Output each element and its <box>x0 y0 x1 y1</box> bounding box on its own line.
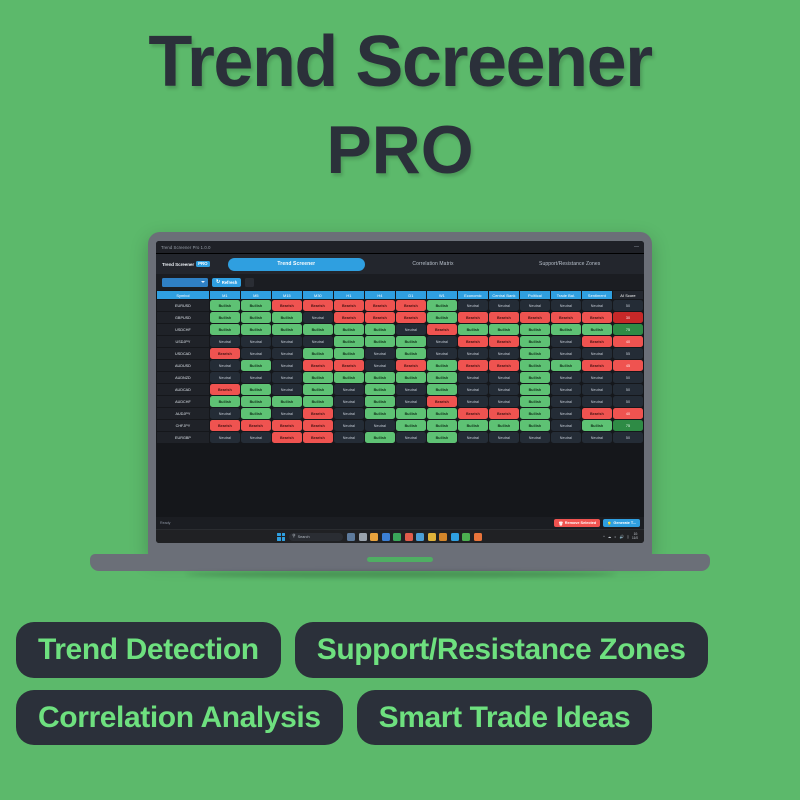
search-icon: ⚲ <box>292 534 295 539</box>
app-statusbar: Ready 🗑 Remove Selected 💡 Generate T... <box>156 517 644 529</box>
feature-badge-trend-detection: Trend Detection <box>16 622 281 678</box>
cell-central-bank[interactable]: Neutral <box>489 300 519 311</box>
cell-symbol[interactable]: CHFJPY <box>157 420 209 431</box>
cell-symbol[interactable]: EURGBP <box>157 432 209 443</box>
cell-symbol[interactable]: GBPUSD <box>157 312 209 323</box>
table-row[interactable]: AUDJPYNeutralBullishNeutralBearishNeutra… <box>157 408 643 419</box>
generate-trade-label: Generate T... <box>613 521 636 525</box>
cell-w1[interactable]: Bullish <box>427 384 457 395</box>
laptop-lid: Trend Screener Pro 1.0.0 — Trend Screene… <box>148 232 652 557</box>
cell-d1[interactable]: Bullish <box>396 420 426 431</box>
table-row[interactable]: AUDNZDNeutralNeutralNeutralBullishBullis… <box>157 372 643 383</box>
cell-m30[interactable]: Bearish <box>303 408 333 419</box>
app-icon-1[interactable] <box>428 533 436 541</box>
cell-central-bank[interactable]: Neutral <box>489 348 519 359</box>
cell-h4[interactable]: Bullish <box>365 384 395 395</box>
cell-m5[interactable]: Neutral <box>241 372 271 383</box>
cell-d1[interactable]: Bearish <box>396 312 426 323</box>
cell-sentiment[interactable]: Bullish <box>582 324 612 335</box>
cell-m15[interactable]: Bullish <box>272 324 302 335</box>
col-header-m15[interactable]: M15 <box>272 291 302 299</box>
cell-m1[interactable]: Bearish <box>210 420 240 431</box>
cell-d1[interactable]: Bullish <box>396 408 426 419</box>
table-body: EURUSDBullishBullishBearishBearishBearis… <box>157 300 643 443</box>
cell-m5[interactable]: Bullish <box>241 300 271 311</box>
cell-d1[interactable]: Bullish <box>396 336 426 347</box>
cell-m5[interactable]: Neutral <box>241 336 271 347</box>
cell-central-bank[interactable]: Bearish <box>489 360 519 371</box>
cell-economic[interactable]: Bullish <box>458 324 488 335</box>
cell-m1[interactable]: Neutral <box>210 432 240 443</box>
cell-m5[interactable]: Bullish <box>241 360 271 371</box>
notepad-icon[interactable] <box>416 533 424 541</box>
cell-symbol[interactable]: AUDNZD <box>157 372 209 383</box>
cell-political[interactable]: Bullish <box>520 360 550 371</box>
cell-w1[interactable]: Bullish <box>427 312 457 323</box>
cell-symbol[interactable]: AUDCAD <box>157 384 209 395</box>
cell-m1[interactable]: Neutral <box>210 336 240 347</box>
cell-m5[interactable]: Neutral <box>241 432 271 443</box>
table-row[interactable]: USDJPYNeutralNeutralNeutralNeutralBullis… <box>157 336 643 347</box>
table-row[interactable]: AUDCHFBullishBullishBullishBullishNeutra… <box>157 396 643 407</box>
cell-m15[interactable]: Bearish <box>272 432 302 443</box>
feature-row-1: Trend Detection Support/Resistance Zones <box>16 622 784 678</box>
cell-economic[interactable]: Bearish <box>458 312 488 323</box>
cell-w1[interactable]: Bearish <box>427 324 457 335</box>
cell-m15[interactable]: Neutral <box>272 360 302 371</box>
cell-m30[interactable]: Bearish <box>303 420 333 431</box>
cell-trade-bal[interactable]: Neutral <box>551 372 581 383</box>
cell-h1[interactable]: Neutral <box>334 420 364 431</box>
weather-widget[interactable] <box>347 533 355 541</box>
wifi-icon[interactable]: ◐ <box>614 535 616 539</box>
cell-m30[interactable]: Neutral <box>303 312 333 323</box>
cell-m30[interactable]: Bullish <box>303 384 333 395</box>
cell-trade-bal[interactable]: Neutral <box>551 396 581 407</box>
cell-h1[interactable]: Neutral <box>334 408 364 419</box>
table-row[interactable]: EURUSDBullishBullishBearishBearishBearis… <box>157 300 643 311</box>
col-header-d1[interactable]: D1 <box>396 291 426 299</box>
table-row[interactable]: EURGBPNeutralNeutralBearishBearishNeutra… <box>157 432 643 443</box>
cell-economic[interactable]: Neutral <box>458 432 488 443</box>
hero-title-line2: PRO <box>0 110 800 192</box>
cell-m30[interactable]: Bearish <box>303 300 333 311</box>
cell-economic[interactable]: Neutral <box>458 300 488 311</box>
cell-economic[interactable]: Bearish <box>458 408 488 419</box>
cell-political[interactable]: Neutral <box>520 300 550 311</box>
clock-date: 11/0 <box>632 537 638 541</box>
cell-economic[interactable]: Neutral <box>458 384 488 395</box>
col-header-central-bank[interactable]: Central Bank <box>489 291 519 299</box>
cell-trade-bal[interactable]: Neutral <box>551 336 581 347</box>
taskbar-tray[interactable]: ^ ☁ ◐ 🔊 ▯ 10: 11/0 <box>603 533 640 540</box>
tab-trend-screener[interactable]: Trend Screener <box>228 258 365 271</box>
cell-sentiment[interactable]: Bearish <box>582 312 612 323</box>
screener-table: SymbolM1M5M15M30H1H4D1W1EconomicCentral … <box>156 290 644 444</box>
table-row[interactable]: AUDUSDNeutralBullishNeutralBearishBearis… <box>157 360 643 371</box>
app-navbar: Trend Screener PRO Trend Screener Correl… <box>156 254 644 274</box>
app-logo-pro-badge: PRO <box>196 261 210 267</box>
cell-sentiment[interactable]: Bearish <box>582 408 612 419</box>
cell-central-bank[interactable]: Neutral <box>489 396 519 407</box>
cell-m15[interactable]: Neutral <box>272 372 302 383</box>
cell-symbol[interactable]: AUDCHF <box>157 396 209 407</box>
cell-m15[interactable]: Bearish <box>272 300 302 311</box>
cell-h4[interactable]: Bullish <box>365 372 395 383</box>
table-row[interactable]: AUDCADBearishBullishNeutralBullishNeutra… <box>157 384 643 395</box>
app-logo: Trend Screener PRO <box>162 261 222 267</box>
cell-m30[interactable]: Neutral <box>303 336 333 347</box>
cell-political[interactable]: Bullish <box>520 336 550 347</box>
bulb-icon: 💡 <box>607 521 612 526</box>
cell-m15[interactable]: Neutral <box>272 336 302 347</box>
cell-h1[interactable]: Bullish <box>334 324 364 335</box>
cell-h4[interactable]: Bearish <box>365 300 395 311</box>
chrome-icon[interactable] <box>393 533 401 541</box>
minimize-icon[interactable]: — <box>634 245 639 250</box>
col-header-m5[interactable]: M5 <box>241 291 271 299</box>
cell-m1[interactable]: Bearish <box>210 384 240 395</box>
refresh-button-label: Refresh <box>222 280 238 285</box>
cell-h1[interactable]: Bullish <box>334 372 364 383</box>
poster-root: Trend Screener PRO Trend Screener Pro 1.… <box>0 0 800 800</box>
app-icon-3[interactable] <box>451 533 459 541</box>
cell-ai-score[interactable]: 50 <box>613 372 643 383</box>
window-controls[interactable]: — <box>634 245 639 250</box>
cell-political[interactable]: Bullish <box>520 348 550 359</box>
cell-h1[interactable]: Bearish <box>334 300 364 311</box>
taskbar-center-group: ⚲ Search <box>160 533 599 541</box>
cell-ai-score[interactable]: 50 <box>613 384 643 395</box>
window-title: Trend Screener Pro 1.0.0 <box>161 245 211 250</box>
cell-m1[interactable]: Bullish <box>210 324 240 335</box>
col-header-sentiment[interactable]: Sentiment <box>582 291 612 299</box>
cell-political[interactable]: Bullish <box>520 324 550 335</box>
table-row[interactable]: CHFJPYBearishBearishBearishBearishNeutra… <box>157 420 643 431</box>
cell-ai-score[interactable]: 50 <box>613 396 643 407</box>
cell-symbol[interactable]: USDCAD <box>157 348 209 359</box>
refresh-button[interactable]: ↻ Refresh <box>212 278 241 287</box>
remove-selected-button[interactable]: 🗑 Remove Selected <box>554 519 600 527</box>
symbol-group-select[interactable] <box>162 278 208 287</box>
cell-trade-bal[interactable]: Bullish <box>551 324 581 335</box>
cell-d1[interactable]: Bearish <box>396 300 426 311</box>
cell-h4[interactable]: Bullish <box>365 396 395 407</box>
cell-sentiment[interactable]: Neutral <box>582 300 612 311</box>
cell-w1[interactable]: Neutral <box>427 348 457 359</box>
cell-central-bank[interactable]: Bullish <box>489 324 519 335</box>
cell-h1[interactable]: Bearish <box>334 360 364 371</box>
tab-support-resistance-zones[interactable]: Support/Resistance Zones <box>501 258 638 271</box>
cell-h1[interactable]: Bullish <box>334 348 364 359</box>
taskbar-pinned-icons[interactable] <box>347 533 482 541</box>
app-toolbar: ↻ Refresh <box>156 274 644 290</box>
cell-trade-bal[interactable]: Neutral <box>551 300 581 311</box>
cell-m5[interactable]: Bullish <box>241 396 271 407</box>
cell-d1[interactable]: Bearish <box>396 360 426 371</box>
volume-icon[interactable]: 🔊 <box>620 535 624 539</box>
cell-m1[interactable]: Bullish <box>210 312 240 323</box>
hero-heading: Trend Screener PRO <box>0 26 800 192</box>
cell-m15[interactable]: Bullish <box>272 312 302 323</box>
edge-icon[interactable] <box>382 533 390 541</box>
cell-sentiment[interactable]: Neutral <box>582 372 612 383</box>
cell-m5[interactable]: Neutral <box>241 348 271 359</box>
cell-central-bank[interactable]: Neutral <box>489 384 519 395</box>
cell-h4[interactable]: Neutral <box>365 420 395 431</box>
cell-trade-bal[interactable]: Bullish <box>551 360 581 371</box>
table-head: SymbolM1M5M15M30H1H4D1W1EconomicCentral … <box>157 291 643 299</box>
cell-m5[interactable]: Bullish <box>241 324 271 335</box>
cell-symbol[interactable]: AUDJPY <box>157 408 209 419</box>
cell-h4[interactable]: Neutral <box>365 360 395 371</box>
cell-ai-score[interactable]: 75 <box>613 324 643 335</box>
cell-d1[interactable]: Neutral <box>396 432 426 443</box>
col-header-symbol[interactable]: Symbol <box>157 291 209 299</box>
cell-w1[interactable]: Neutral <box>427 336 457 347</box>
file-explorer-icon[interactable] <box>359 533 367 541</box>
cell-m30[interactable]: Bullish <box>303 324 333 335</box>
app-titlebar: Trend Screener Pro 1.0.0 — <box>156 241 644 254</box>
trash-icon: 🗑 <box>558 521 563 526</box>
cloud-icon[interactable]: ☁ <box>608 535 612 539</box>
taskbar-search-placeholder: Search <box>298 535 310 539</box>
app-logo-text: Trend Screener <box>162 262 194 267</box>
cell-m5[interactable]: Bullish <box>241 408 271 419</box>
cell-h4[interactable]: Bearish <box>365 312 395 323</box>
cell-m15[interactable]: Neutral <box>272 348 302 359</box>
cell-m30[interactable]: Bearish <box>303 360 333 371</box>
cell-d1[interactable]: Neutral <box>396 384 426 395</box>
cell-trade-bal[interactable]: Neutral <box>551 420 581 431</box>
feature-badge-support-resistance-zones: Support/Resistance Zones <box>295 622 708 678</box>
col-header-w1[interactable]: W1 <box>427 291 457 299</box>
cell-political[interactable]: Bearish <box>520 312 550 323</box>
cell-economic[interactable]: Bearish <box>458 360 488 371</box>
laptop-mockup: Trend Screener Pro 1.0.0 — Trend Screene… <box>90 232 710 592</box>
cell-ai-score[interactable]: 55 <box>613 348 643 359</box>
cell-h1[interactable]: Neutral <box>334 396 364 407</box>
app-icon-2[interactable] <box>439 533 447 541</box>
col-header-h1[interactable]: H1 <box>334 291 364 299</box>
cell-m1[interactable]: Neutral <box>210 372 240 383</box>
cell-central-bank[interactable]: Neutral <box>489 372 519 383</box>
cell-h4[interactable]: Bullish <box>365 432 395 443</box>
table-header-row: SymbolM1M5M15M30H1H4D1W1EconomicCentral … <box>157 291 643 299</box>
tab-bar: Trend Screener Correlation Matrix Suppor… <box>228 258 638 271</box>
cell-economic[interactable]: Neutral <box>458 348 488 359</box>
col-header-m30[interactable]: M30 <box>303 291 333 299</box>
cell-h1[interactable]: Neutral <box>334 384 364 395</box>
battery-icon[interactable]: ▯ <box>627 535 629 539</box>
cell-ai-score[interactable]: 50 <box>613 300 643 311</box>
cell-economic[interactable]: Neutral <box>458 396 488 407</box>
chevron-up-icon[interactable]: ^ <box>603 535 605 539</box>
cell-trade-bal[interactable]: Neutral <box>551 408 581 419</box>
col-header-m1[interactable]: M1 <box>210 291 240 299</box>
cell-political[interactable]: Neutral <box>520 432 550 443</box>
cell-symbol[interactable]: USDJPY <box>157 336 209 347</box>
taskbar-clock[interactable]: 10: 11/0 <box>632 533 638 540</box>
cell-symbol[interactable]: AUDUSD <box>157 360 209 371</box>
table-row[interactable]: USDCHFBullishBullishBullishBullishBullis… <box>157 324 643 335</box>
cell-central-bank[interactable]: Bearish <box>489 408 519 419</box>
cell-economic[interactable]: Bullish <box>458 420 488 431</box>
cell-sentiment[interactable]: Neutral <box>582 384 612 395</box>
cell-sentiment[interactable]: Bearish <box>582 336 612 347</box>
col-header-political[interactable]: Political <box>520 291 550 299</box>
cell-m5[interactable]: Bullish <box>241 384 271 395</box>
remove-selected-label: Remove Selected <box>565 521 596 525</box>
laptop-base-shadow <box>186 571 616 578</box>
cell-m30[interactable]: Bullish <box>303 348 333 359</box>
windows-taskbar: ⚲ Search ^ ☁ ◐ 🔊 ▯ 10: 11/0 <box>156 529 644 543</box>
windows-start-icon[interactable] <box>277 533 285 541</box>
settings-button[interactable] <box>245 278 254 287</box>
cell-m15[interactable]: Bearish <box>272 420 302 431</box>
laptop-screen: Trend Screener Pro 1.0.0 — Trend Screene… <box>156 241 644 543</box>
table-row[interactable]: GBPUSDBullishBullishBullishNeutralBearis… <box>157 312 643 323</box>
cell-w1[interactable]: Bearish <box>427 396 457 407</box>
cell-sentiment[interactable]: Bearish <box>582 360 612 371</box>
cell-d1[interactable]: Neutral <box>396 396 426 407</box>
cell-political[interactable]: Bullish <box>520 396 550 407</box>
cell-m1[interactable]: Bearish <box>210 348 240 359</box>
cell-sentiment[interactable]: Neutral <box>582 396 612 407</box>
cell-trade-bal[interactable]: Bearish <box>551 312 581 323</box>
cell-trade-bal[interactable]: Neutral <box>551 348 581 359</box>
cell-m1[interactable]: Neutral <box>210 408 240 419</box>
col-header-trade-bal[interactable]: Trade Bal. <box>551 291 581 299</box>
cell-m5[interactable]: Bullish <box>241 312 271 323</box>
cell-d1[interactable]: Bullish <box>396 372 426 383</box>
cell-political[interactable]: Bullish <box>520 408 550 419</box>
cell-trade-bal[interactable]: Neutral <box>551 384 581 395</box>
col-header-economic[interactable]: Economic <box>458 291 488 299</box>
cell-ai-score[interactable]: 75 <box>613 420 643 431</box>
status-text: Ready <box>160 521 170 525</box>
cell-h4[interactable]: Bullish <box>365 324 395 335</box>
cell-central-bank[interactable]: Bearish <box>489 312 519 323</box>
feature-badge-smart-trade-ideas: Smart Trade Ideas <box>357 690 653 746</box>
app-icon-4[interactable] <box>462 533 470 541</box>
folder-icon[interactable] <box>370 533 378 541</box>
cell-m1[interactable]: Neutral <box>210 360 240 371</box>
tab-correlation-matrix[interactable]: Correlation Matrix <box>365 258 502 271</box>
cell-ai-score[interactable]: 40 <box>613 408 643 419</box>
cell-m1[interactable]: Bullish <box>210 300 240 311</box>
cell-m15[interactable]: Bullish <box>272 396 302 407</box>
cell-political[interactable]: Bullish <box>520 372 550 383</box>
laptop-hinge <box>90 554 710 571</box>
cell-m15[interactable]: Neutral <box>272 408 302 419</box>
cell-w1[interactable]: Bullish <box>427 360 457 371</box>
cell-m30[interactable]: Bullish <box>303 396 333 407</box>
cell-sentiment[interactable]: Neutral <box>582 348 612 359</box>
cell-central-bank[interactable]: Neutral <box>489 432 519 443</box>
cell-central-bank[interactable]: Bullish <box>489 420 519 431</box>
paint-icon[interactable] <box>405 533 413 541</box>
col-header-ai-score[interactable]: AI Score <box>613 291 643 299</box>
cell-h4[interactable]: Bullish <box>365 408 395 419</box>
chevron-down-icon <box>201 281 205 283</box>
cell-political[interactable]: Bullish <box>520 420 550 431</box>
cell-m15[interactable]: Neutral <box>272 384 302 395</box>
cell-w1[interactable]: Bullish <box>427 300 457 311</box>
cell-w1[interactable]: Bullish <box>427 432 457 443</box>
refresh-icon: ↻ <box>216 280 220 285</box>
cell-ai-score[interactable]: 50 <box>613 432 643 443</box>
cell-ai-score[interactable]: 30 <box>613 312 643 323</box>
feature-badge-group: Trend Detection Support/Resistance Zones… <box>0 622 800 757</box>
col-header-h4[interactable]: H4 <box>365 291 395 299</box>
cell-sentiment[interactable]: Neutral <box>582 432 612 443</box>
cell-m30[interactable]: Bearish <box>303 432 333 443</box>
cell-economic[interactable]: Neutral <box>458 372 488 383</box>
cell-h1[interactable]: Bullish <box>334 336 364 347</box>
cell-political[interactable]: Bullish <box>520 384 550 395</box>
cell-m5[interactable]: Bearish <box>241 420 271 431</box>
cell-d1[interactable]: Bullish <box>396 348 426 359</box>
cell-d1[interactable]: Neutral <box>396 324 426 335</box>
cell-central-bank[interactable]: Bearish <box>489 336 519 347</box>
cell-h1[interactable]: Neutral <box>334 432 364 443</box>
cell-ai-score[interactable]: 40 <box>613 336 643 347</box>
cell-sentiment[interactable]: Bullish <box>582 420 612 431</box>
cell-trade-bal[interactable]: Neutral <box>551 432 581 443</box>
cell-h4[interactable]: Bullish <box>365 336 395 347</box>
feature-badge-correlation-analysis: Correlation Analysis <box>16 690 343 746</box>
cell-economic[interactable]: Bearish <box>458 336 488 347</box>
feature-row-2: Correlation Analysis Smart Trade Ideas <box>16 690 784 746</box>
app-icon-5[interactable] <box>474 533 482 541</box>
hero-title-line1: Trend Screener <box>0 26 800 98</box>
cell-h1[interactable]: Bearish <box>334 312 364 323</box>
cell-w1[interactable]: Bullish <box>427 372 457 383</box>
cell-w1[interactable]: Bullish <box>427 408 457 419</box>
generate-trade-button[interactable]: 💡 Generate T... <box>603 519 640 527</box>
cell-symbol[interactable]: EURUSD <box>157 300 209 311</box>
status-actions: 🗑 Remove Selected 💡 Generate T... <box>554 519 640 527</box>
cell-m1[interactable]: Bullish <box>210 396 240 407</box>
taskbar-search-input[interactable]: ⚲ Search <box>289 533 343 541</box>
cell-ai-score[interactable]: 45 <box>613 360 643 371</box>
screener-table-container[interactable]: SymbolM1M5M15M30H1H4D1W1EconomicCentral … <box>156 290 644 517</box>
cell-w1[interactable]: Bullish <box>427 420 457 431</box>
table-row[interactable]: USDCADBearishNeutralNeutralBullishBullis… <box>157 348 643 359</box>
cell-h4[interactable]: Neutral <box>365 348 395 359</box>
cell-symbol[interactable]: USDCHF <box>157 324 209 335</box>
cell-m30[interactable]: Bullish <box>303 372 333 383</box>
